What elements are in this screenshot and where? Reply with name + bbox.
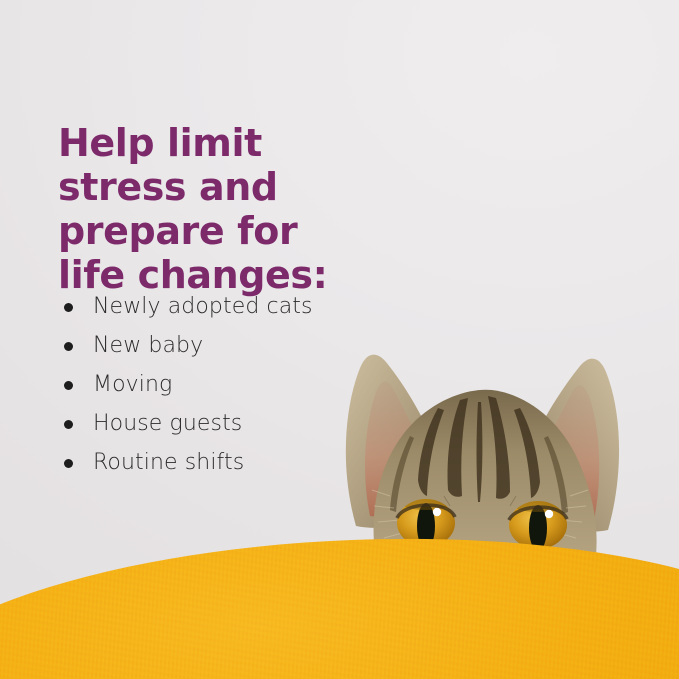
bullet-dot-icon xyxy=(64,381,73,390)
list-item-label: New baby xyxy=(93,333,203,358)
list-item-label: House guests xyxy=(93,411,242,436)
list-item-label: Routine shifts xyxy=(93,450,244,475)
list-item: Newly adopted cats xyxy=(60,292,380,331)
list-item-label: Moving xyxy=(93,372,172,397)
headline-line-1: Help limit xyxy=(58,121,358,165)
page-title: Help limit stress and prepare for life c… xyxy=(58,121,358,297)
list-item: Routine shifts xyxy=(60,448,380,487)
list-item: New baby xyxy=(60,331,380,370)
bullet-dot-icon xyxy=(64,303,73,312)
bullet-dot-icon xyxy=(64,420,73,429)
headline-line-4: life changes: xyxy=(58,253,358,297)
headline-line-3: prepare for xyxy=(58,209,358,253)
headline-line-2: stress and xyxy=(58,165,358,209)
list-item: House guests xyxy=(60,409,380,448)
poster-canvas: Help limit stress and prepare for life c… xyxy=(0,0,679,679)
bullet-dot-icon xyxy=(64,342,73,351)
list-item-label: Newly adopted cats xyxy=(93,294,313,319)
bullet-list: Newly adopted cats New baby Moving House… xyxy=(60,292,380,487)
list-item: Moving xyxy=(60,370,380,409)
bullet-dot-icon xyxy=(64,459,73,468)
